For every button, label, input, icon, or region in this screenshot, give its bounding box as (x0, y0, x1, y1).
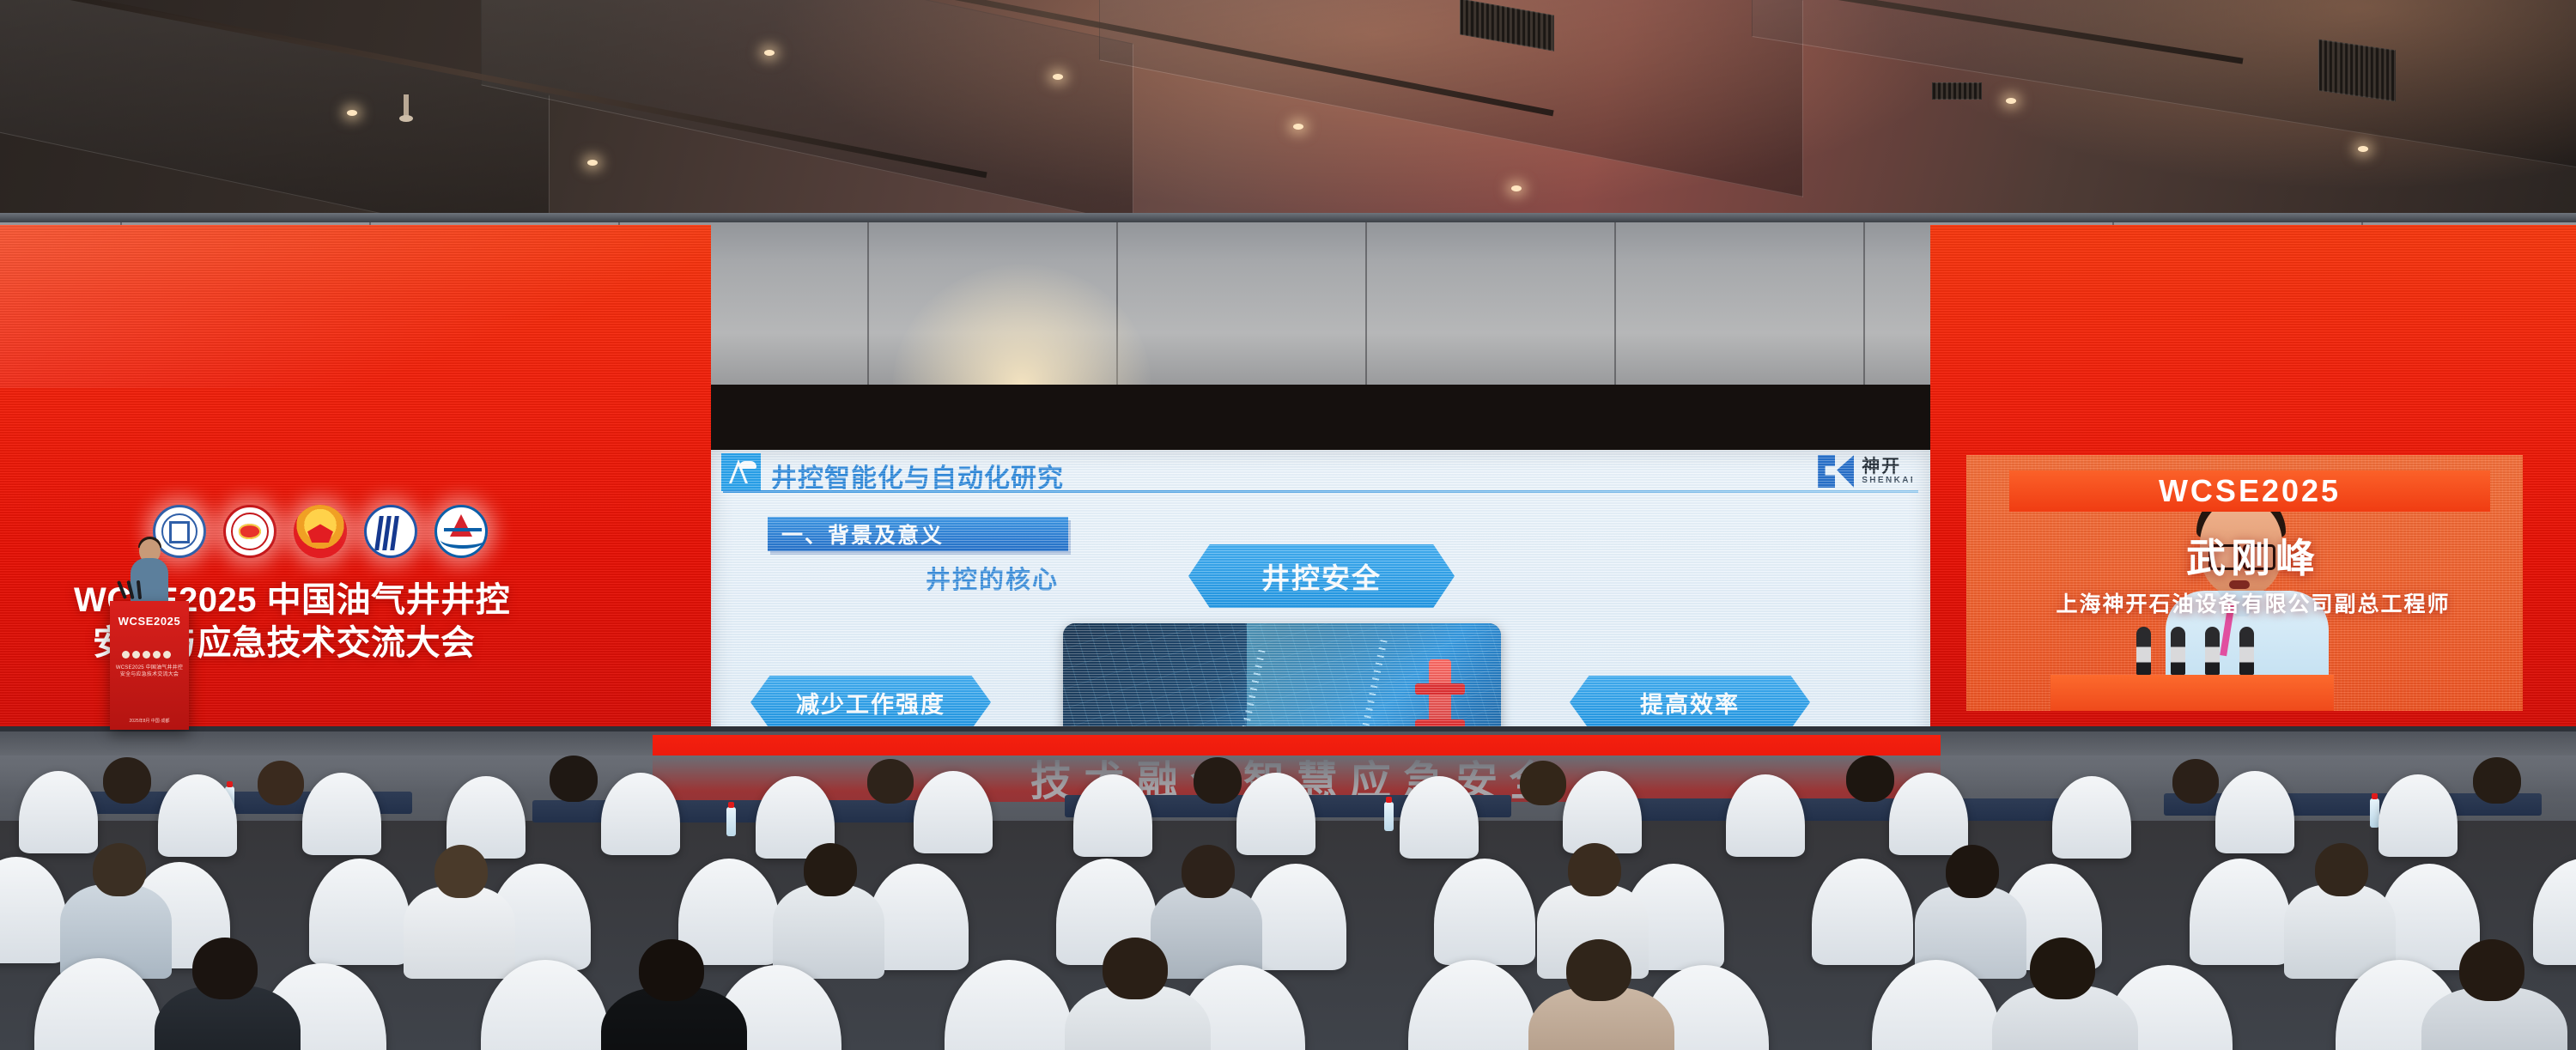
downlight (1053, 74, 1063, 80)
speaker-role: 上海神开石油设备有限公司副总工程师 (1930, 587, 2576, 618)
shenkai-cn-text: 神开 (1862, 458, 1915, 476)
attendee-head (804, 843, 857, 896)
cnpc-emblem (294, 505, 347, 558)
conference-hall-scene: WCSE2025 中国油气井井控 安全与应急技术交流大会 井控智能化与自动化研究… (0, 0, 2576, 1050)
podium-subtitle-line-1: WCSE2025 中国油气井井控 (110, 665, 189, 671)
wellhead-equipment (1429, 659, 1451, 728)
downlight (764, 50, 775, 56)
chair (2215, 771, 2294, 853)
attendee-head (103, 757, 151, 804)
podium-date-location: 2025年8月 中国·成都 (110, 718, 189, 724)
attendee-head (1566, 939, 1631, 1001)
slide-title: 井控智能化与自动化研究 (771, 457, 1064, 495)
attendee-head (2030, 938, 2095, 999)
chair (1563, 771, 1642, 853)
hex-box-safety: 井控安全 (1188, 544, 1455, 608)
attendee-head (2315, 843, 2368, 896)
attendee-head (1946, 845, 1999, 898)
hex-box-workload: 减少工作强度 (750, 676, 991, 728)
chair (2533, 859, 2576, 965)
attendee-head (1568, 843, 1621, 896)
attendee-head (258, 761, 304, 805)
downlight (2006, 98, 2016, 104)
ceiling-vent (1932, 82, 1982, 100)
ceiling (0, 0, 2576, 216)
chair (945, 960, 1073, 1050)
chair (2379, 774, 2458, 857)
chair (601, 773, 680, 855)
attendee-body (773, 884, 884, 979)
chair (1812, 859, 1913, 965)
attendee-head (1520, 761, 1566, 805)
attendee-head (867, 759, 914, 804)
attendee-head (639, 939, 704, 1001)
chair (1408, 960, 1537, 1050)
stage-podium: WCSE2025 WCSE2025 中国油气井井控 安全与应急技术交流大会 20… (110, 601, 189, 730)
attendee-head (1182, 845, 1235, 898)
attendee-head (1103, 938, 1168, 999)
downlight (587, 160, 598, 166)
attendee-head (434, 845, 488, 898)
ceiling-panel (481, 0, 1133, 224)
chair (1236, 773, 1315, 855)
china-map-emblem (223, 505, 276, 558)
podium-title: WCSE2025 (110, 615, 189, 628)
shenkai-logo: 神开 SHENKAI (1818, 455, 1915, 488)
slide-section-bar: 一、背景及意义 (768, 517, 1068, 551)
shenkai-mark-icon (1818, 455, 1854, 488)
drilling-rig-3d-render (1063, 623, 1501, 728)
sponsor-emblem-row (153, 505, 488, 558)
presentation-slide: 井控智能化与自动化研究 神开 SHENKAI 一、背景及意义 井控的核心 井控安… (711, 450, 1930, 728)
core-label: 井控的核心 (926, 560, 1059, 596)
downlight (347, 110, 357, 116)
chair (2052, 776, 2131, 859)
speaker-name: 武刚峰 (1930, 527, 2576, 584)
cnooc-emblem (434, 505, 488, 558)
chair (914, 771, 993, 853)
attendee-body (404, 886, 515, 979)
sinopec-emblem (364, 505, 417, 558)
chair (19, 771, 98, 853)
attendee-head (192, 938, 258, 999)
attendee-head (1846, 756, 1894, 802)
chair (1889, 773, 1968, 855)
chair (1073, 774, 1152, 857)
attendee-head (550, 756, 598, 802)
hex-box-efficiency: 提高效率 (1570, 676, 1810, 728)
downlight (1511, 185, 1522, 191)
chair (1726, 774, 1805, 857)
podium-logo-row (122, 651, 171, 659)
audience-seating (0, 756, 2576, 1050)
downlight (1293, 124, 1303, 130)
chair (309, 859, 410, 965)
ceiling-vent (2318, 39, 2396, 102)
chair (2190, 859, 2291, 965)
shenkai-en-text: SHENKAI (1862, 476, 1915, 485)
chair (302, 773, 381, 855)
slide-header: 井控智能化与自动化研究 神开 SHENKAI (711, 450, 1930, 498)
attendee-head (93, 843, 146, 896)
downlight (2358, 146, 2368, 152)
chair (1434, 859, 1535, 965)
sprinkler-head (404, 94, 409, 117)
oil-derrick-icon (721, 453, 761, 491)
chair (1400, 776, 1479, 859)
attendee-head (2459, 939, 2524, 1001)
chair (0, 857, 67, 963)
capb-emblem (153, 505, 206, 558)
attendee-head (1194, 757, 1242, 804)
speaker-info-panel: 武刚峰 上海神开石油设备有限公司副总工程师 (1930, 486, 2576, 728)
attendee-head (2172, 759, 2219, 804)
wall-rail (0, 213, 2576, 222)
attendee-head (2473, 757, 2521, 804)
podium-subtitle-line-2: 安全与应急技术交流大会 (110, 671, 189, 678)
